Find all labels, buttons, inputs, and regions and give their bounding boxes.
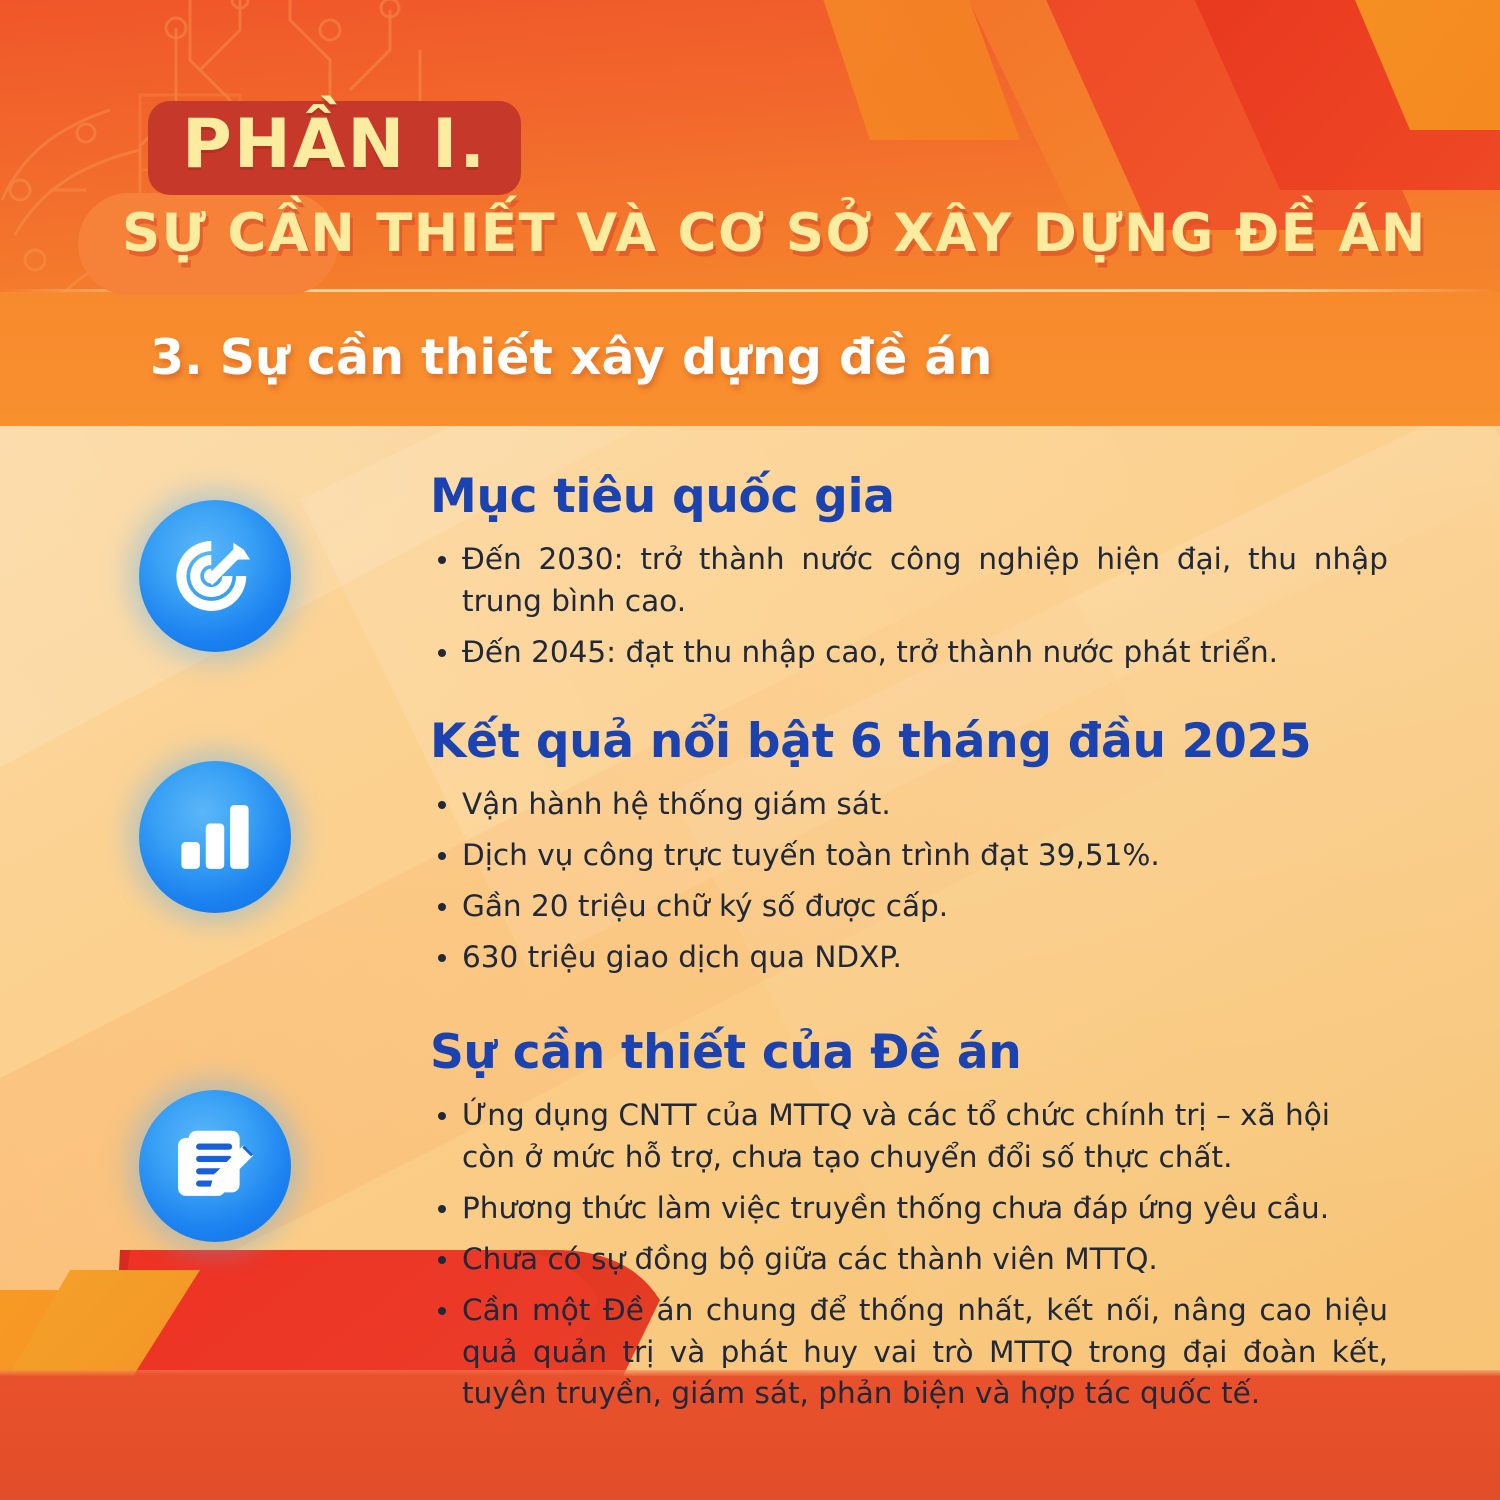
icon-badge: [139, 761, 291, 913]
icon-column: [0, 1028, 430, 1242]
list-item: Đến 2030: trở thành nước công nghiệp hiệ…: [430, 539, 1388, 623]
section-title: 3. Sự cần thiết xây dựng đề án: [150, 333, 992, 382]
icon-badge: [139, 500, 291, 652]
list-item: 630 triệu giao dịch qua NDXP.: [430, 937, 1388, 979]
target-arrow-icon: [169, 530, 261, 622]
icon-column: [0, 717, 430, 913]
list-item: Vận hành hệ thống giám sát.: [430, 784, 1388, 826]
list-item: Dịch vụ công trực tuyến toàn trình đạt 3…: [430, 835, 1388, 877]
text-column: Sự cần thiết của Đề án Ứng dụng CNTT của…: [430, 1028, 1500, 1424]
list-item: Cần một Đề án chung để thống nhất, kết n…: [430, 1290, 1388, 1416]
list-item: Chưa có sự đồng bộ giữa các thành viên M…: [430, 1239, 1388, 1281]
part-badge: PHẦN I.: [148, 101, 521, 195]
list-item: Đến 2045: đạt thu nhập cao, trở thành nư…: [430, 632, 1388, 674]
header: PHẦN I. SỰ CẦN THIẾT VÀ CƠ SỞ XÂY DỰNG Đ…: [0, 0, 1500, 426]
document-pencil-icon: [171, 1122, 259, 1210]
icon-badge: [139, 1090, 291, 1242]
list-item: Phương thức làm việc truyền thống chưa đ…: [430, 1188, 1388, 1230]
content-area: Mục tiêu quốc gia Đến 2030: trở thành nư…: [0, 426, 1500, 1424]
content-block: Kết quả nổi bật 6 tháng đầu 2025 Vận hàn…: [0, 717, 1500, 988]
list-item: Gần 20 triệu chữ ký số được cấp.: [430, 886, 1388, 928]
bullet-list: Đến 2030: trở thành nước công nghiệp hiệ…: [430, 539, 1388, 674]
block-title: Sự cần thiết của Đề án: [430, 1028, 1388, 1077]
bar-chart-icon: [173, 795, 257, 879]
content-block: Mục tiêu quốc gia Đến 2030: trở thành nư…: [0, 472, 1500, 683]
bullet-list: Ứng dụng CNTT của MTTQ và các tổ chức ch…: [430, 1095, 1388, 1415]
bullet-list: Vận hành hệ thống giám sát. Dịch vụ công…: [430, 784, 1388, 979]
content-block: Sự cần thiết của Đề án Ứng dụng CNTT của…: [0, 1028, 1500, 1424]
list-item: Ứng dụng CNTT của MTTQ và các tổ chức ch…: [430, 1095, 1388, 1179]
block-title: Mục tiêu quốc gia: [430, 472, 1388, 521]
text-column: Kết quả nổi bật 6 tháng đầu 2025 Vận hàn…: [430, 717, 1500, 988]
infographic-poster: PHẦN I. SỰ CẦN THIẾT VÀ CƠ SỞ XÂY DỰNG Đ…: [0, 0, 1500, 1500]
block-title: Kết quả nổi bật 6 tháng đầu 2025: [430, 717, 1388, 766]
header-subtitle: SỰ CẦN THIẾT VÀ CƠ SỞ XÂY DỰNG ĐỀ ÁN: [122, 207, 1427, 260]
icon-column: [0, 472, 430, 652]
text-column: Mục tiêu quốc gia Đến 2030: trở thành nư…: [430, 472, 1500, 683]
